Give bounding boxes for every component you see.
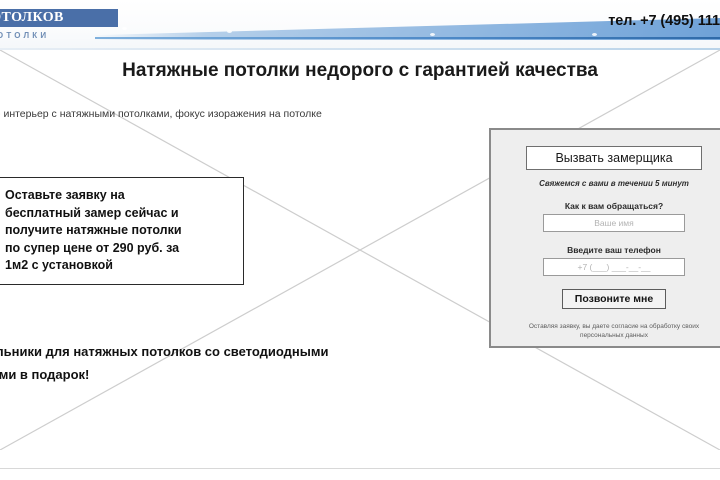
bonus-line-2: мпами в подарок! [0,363,404,386]
header-bottom-edge [0,48,720,50]
offer-line: получите натяжные потолки [5,222,233,240]
header-phone-number[interactable]: тел. +7 (495) 111 [608,13,720,29]
hero-image-note: фоне - интерьер с натяжными потолками, ф… [0,108,322,120]
offer-line: по супер цене от 290 руб. за [5,240,233,258]
header-sparkle-icon [227,30,232,33]
phone-input[interactable] [543,258,685,276]
bonus-offer-text: етильники для натяжных потолков со свето… [0,340,404,386]
name-input[interactable] [543,214,685,232]
logo-sub-text: НЫЕ ПОТОЛКИ [0,31,118,40]
site-header: КА ПОТОЛКОВ НЫЕ ПОТОЛКИ тел. +7 (495) 11… [0,0,720,50]
response-time-promise: Свяжемся с вами в течении 5 минут [505,179,720,188]
lead-capture-form: Вызвать замерщика Свяжемся с вами в тече… [489,128,720,348]
bonus-line-1: етильники для натяжных потолков со свето… [0,340,404,363]
offer-line: Оставьте заявку на [5,187,233,205]
header-accent-line [95,37,720,39]
privacy-disclaimer: Оставляя заявку, вы даете согласие на об… [519,322,709,340]
name-field-label: Как к вам обращаться? [505,201,720,211]
offer-callout-box: Оставьте заявку на бесплатный замер сейч… [0,177,244,285]
page-title: Натяжные потолки недорого с гарантией ка… [0,60,720,82]
phone-field-label: Введите ваш телефон [505,245,720,255]
site-logo[interactable]: КА ПОТОЛКОВ НЫЕ ПОТОЛКИ [0,9,118,40]
call-measurer-button[interactable]: Вызвать замерщика [526,146,702,170]
logo-main-text: КА ПОТОЛКОВ [0,9,118,27]
offer-line: бесплатный замер сейчас и [5,205,233,223]
placeholder-bottom-border [0,468,720,469]
header-sparkle-icon [122,27,127,30]
offer-line: 1м2 с установкой [5,257,233,275]
call-me-submit-button[interactable]: Позвоните мне [562,289,666,309]
landing-page-mockup: КА ПОТОЛКОВ НЫЕ ПОТОЛКИ тел. +7 (495) 11… [0,0,720,480]
header-sparkle-icon [592,33,597,36]
header-sparkle-icon [430,33,435,36]
